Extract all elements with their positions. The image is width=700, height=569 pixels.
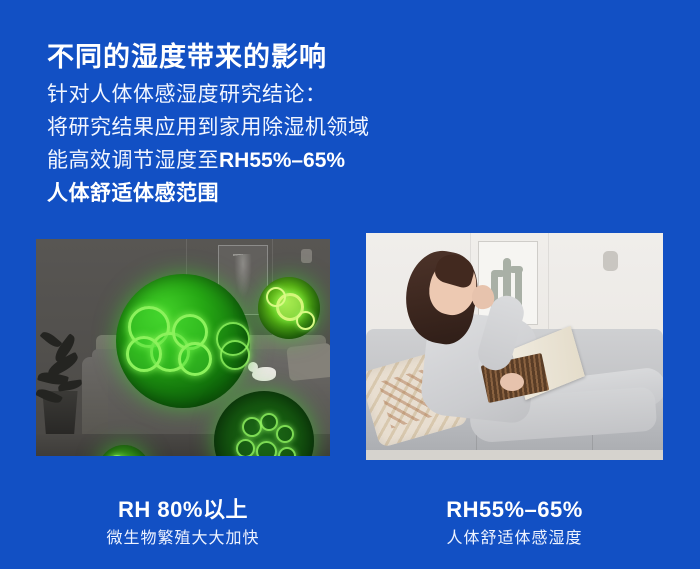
caption-title: RH55%–65% [366, 496, 663, 523]
germ-ring [278, 447, 296, 456]
sofa-cushion [286, 343, 330, 381]
intro-paragraph: 针对人体体感湿度研究结论： 将研究结果应用到家用除湿机领域 能高效调节湿度至RH… [47, 78, 370, 210]
wall-switch-icon [603, 251, 618, 271]
wall-switch-icon [301, 249, 312, 263]
germ-ring [242, 417, 262, 437]
germ-ring [296, 311, 315, 330]
germ-ring [108, 455, 126, 456]
germ-ring [220, 340, 250, 370]
germ-blob [126, 336, 162, 372]
sofa-arm [82, 357, 108, 441]
page-title: 不同的湿度带来的影响 [47, 35, 327, 74]
germ-sphere-ceiling [258, 277, 320, 339]
floor [366, 450, 663, 460]
caption-subtitle: 微生物繁殖大大加快 [36, 527, 330, 551]
caption-comfort-humidity: RH55%–65% 人体舒适体感湿度 [366, 496, 663, 551]
caption-title: RH 80%以上 [36, 496, 330, 523]
germ-sphere-large [116, 274, 250, 408]
intro-line-3-range: RH55%–65% [219, 149, 345, 172]
bird-ornament [252, 367, 276, 381]
intro-line-1: 针对人体体感湿度研究结论： [47, 78, 370, 111]
cactus-icon [509, 266, 523, 273]
photo-panel-high-humidity [36, 239, 330, 456]
caption-subtitle: 人体舒适体感湿度 [366, 527, 663, 551]
cactus-icon [491, 270, 505, 277]
intro-line-3-text: 能高效调节湿度至 [47, 149, 219, 172]
germ-ring [256, 441, 277, 456]
woman-hand-holding-book [500, 373, 524, 391]
intro-line-3: 能高效调节湿度至RH55%–65% [47, 144, 370, 177]
germ-ring [260, 413, 278, 431]
germ-ring [236, 439, 255, 456]
germ-blob [178, 342, 212, 376]
germ-ring [266, 287, 286, 307]
germ-ring [276, 425, 294, 443]
photo-panel-comfort-humidity [366, 233, 663, 460]
humidity-comparison-poster: 不同的湿度带来的影响 针对人体体感湿度研究结论： 将研究结果应用到家用除湿机领域… [0, 0, 700, 569]
caption-high-humidity: RH 80%以上 微生物繁殖大大加快 [36, 496, 330, 551]
intro-line-2: 将研究结果应用到家用除湿机领域 [47, 111, 370, 144]
intro-line-4: 人体舒适体感范围 [47, 177, 370, 210]
